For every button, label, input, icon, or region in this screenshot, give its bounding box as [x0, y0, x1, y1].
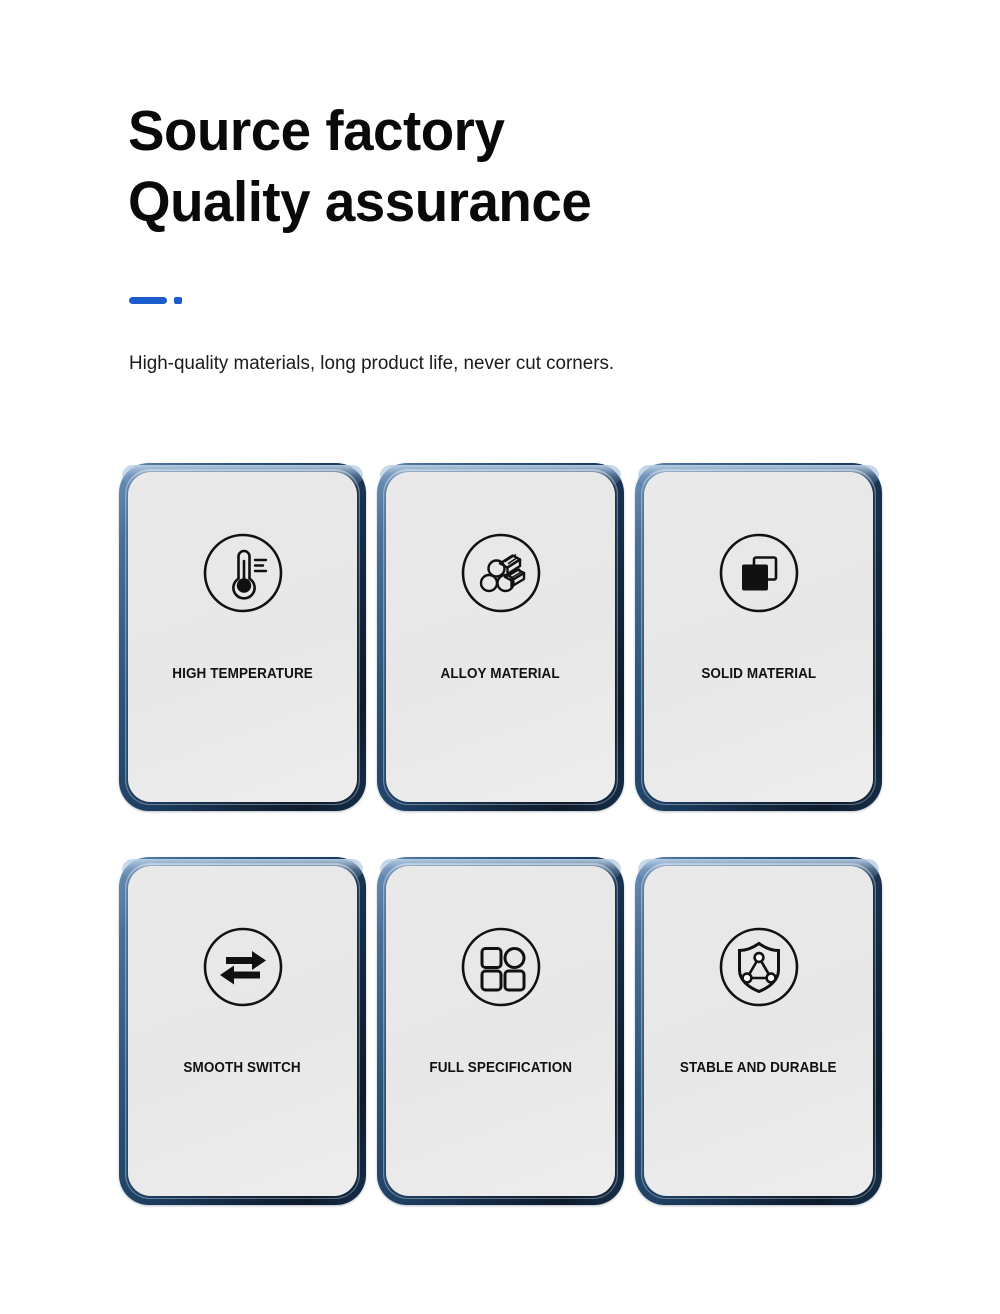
- feature-card[interactable]: HIGH TEMPERATURE: [119, 463, 366, 811]
- page-title-line-1: Source factory: [128, 96, 858, 167]
- shield-nodes-icon: [716, 924, 802, 1010]
- feature-card-label: HIGH TEMPERATURE: [172, 666, 313, 682]
- feature-card[interactable]: STABLE AND DURABLE: [635, 857, 882, 1205]
- metal-bars-icon: [458, 530, 544, 616]
- two-way-arrows-icon: [200, 924, 286, 1010]
- grid-shapes-icon: [458, 924, 544, 1010]
- feature-card[interactable]: ALLOY MATERIAL: [377, 463, 624, 811]
- feature-card-body: SMOOTH SWITCH: [128, 866, 357, 1196]
- promo-page: Source factory Quality assurance High-qu…: [0, 0, 1000, 1314]
- feature-card[interactable]: SMOOTH SWITCH: [119, 857, 366, 1205]
- feature-card-label: SOLID MATERIAL: [701, 666, 816, 682]
- page-title-line-2: Quality assurance: [128, 167, 858, 238]
- feature-card-label: ALLOY MATERIAL: [441, 666, 560, 682]
- feature-card[interactable]: FULL SPECIFICATION: [377, 857, 624, 1205]
- feature-card[interactable]: SOLID MATERIAL: [635, 463, 882, 811]
- feature-card-body: HIGH TEMPERATURE: [128, 472, 357, 802]
- feature-card-body: SOLID MATERIAL: [644, 472, 873, 802]
- feature-card-grid: HIGH TEMPERATURE: [119, 463, 879, 1205]
- feature-card-label: STABLE AND DURABLE: [680, 1060, 837, 1076]
- feature-card-body: ALLOY MATERIAL: [386, 472, 615, 802]
- accent-dot: [174, 297, 182, 304]
- accent-bar: [129, 297, 167, 304]
- feature-card-body: FULL SPECIFICATION: [386, 866, 615, 1196]
- stacked-squares-icon: [716, 530, 802, 616]
- accent-divider: [129, 297, 182, 304]
- feature-card-label: FULL SPECIFICATION: [429, 1060, 572, 1076]
- feature-card-body: STABLE AND DURABLE: [644, 866, 873, 1196]
- page-subtitle: High-quality materials, long product lif…: [129, 350, 614, 378]
- page-header: Source factory Quality assurance: [128, 96, 888, 238]
- thermometer-icon: [200, 530, 286, 616]
- feature-card-label: SMOOTH SWITCH: [184, 1060, 301, 1076]
